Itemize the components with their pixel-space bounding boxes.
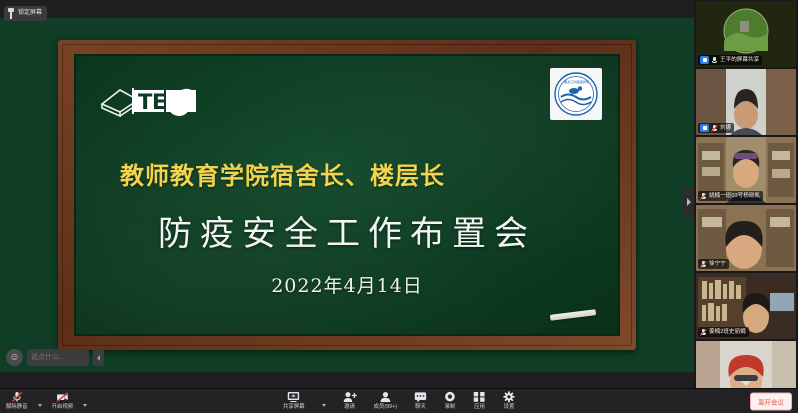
screen-share-icon [700,56,709,64]
record-label: 录制 [445,404,456,411]
participant-tile[interactable]: 徐宁宁 [696,205,796,271]
participant-video-strip[interactable]: 王平的屏幕共享 刘娜 [694,0,798,388]
microphone-icon [711,56,718,64]
settings-button[interactable]: 设置 [503,392,515,411]
slide-subtitle: 教师教育学院宿舍长、楼层长 [120,156,600,191]
toolbar-right-group: 离开会议 [750,392,792,411]
participants-button[interactable]: 成员(99+) [374,392,398,411]
blackboard-surface: T E [74,54,620,336]
participant-name: 王平的屏幕共享 [720,56,759,64]
chat-label: 聊天 [415,404,426,411]
chevron-right-icon [687,198,691,206]
screen-share-icon [287,392,300,403]
apps-label: 应用 [474,404,485,411]
participants-icon [379,392,392,403]
participant-name-badge: 徐宁宁 [698,259,729,269]
screen-share-icon [700,124,709,132]
chat-composer[interactable]: ☺ [6,349,104,366]
emoji-icon[interactable]: ☺ [6,349,23,366]
slide-main-title: 防疫安全工作布置会 [76,206,618,255]
participant-name-badge: 王平的屏幕共享 [698,55,762,65]
shared-screen-stage[interactable]: T E [0,0,694,388]
participant-name: 徐宁宁 [709,260,726,268]
chat-icon [414,392,427,403]
unmute-label: 解除静音 [6,404,28,411]
start-video-button[interactable]: 开启视频 [52,392,74,411]
chat-input[interactable] [27,349,89,366]
participant-name: 姚楠一班03号杨晓凯 [709,192,760,200]
svg-text:T: T [138,90,153,114]
invite-label: 邀请 [344,404,355,411]
start-video-label: 开启视频 [52,404,74,411]
invite-icon [343,392,357,403]
toolbar-left-group: 解除静音 开启视频 [0,392,87,411]
settings-label: 设置 [504,404,515,411]
participant-name-badge: 刘娜 [698,123,734,133]
unmute-button[interactable]: 解除静音 [6,392,28,411]
chevron-up-icon[interactable] [38,404,42,407]
chevron-up-icon[interactable] [83,404,87,407]
svg-text:黑龙江外国语学院: 黑龙江外国语学院 [564,79,589,84]
participant-name-badge: 姚楠一班03号杨晓凯 [698,191,763,201]
gear-icon [503,392,515,403]
blackboard-frame: T E [58,40,636,350]
participants-label: 成员(99+) [374,404,398,411]
lock-screen-badge[interactable]: 锁定屏幕 [4,6,47,21]
participant-tile[interactable]: 姚楠一班03号杨晓凯 [696,137,796,203]
chat-send-button[interactable] [93,349,104,366]
chevron-down-icon[interactable] [741,381,751,386]
participant-tile[interactable]: 姜楠2班史丽娟 [696,273,796,339]
microphone-muted-icon [700,328,707,336]
chevron-right-icon [97,355,100,361]
participant-name: 姜楠2班史丽娟 [709,328,746,336]
invite-button[interactable]: 邀请 [343,392,357,411]
chalk-stick [550,309,596,321]
participant-tile[interactable]: 王平的屏幕共享 [696,1,796,67]
microphone-muted-icon [700,260,707,268]
camera-muted-icon [56,392,69,403]
share-screen-button[interactable]: 共享屏幕 [283,392,305,411]
apps-button[interactable]: 应用 [473,392,486,411]
panel-collapse-handle[interactable] [683,187,694,217]
book-tes-logo: T E [98,74,210,122]
participant-name-badge: 姜楠2班史丽娟 [698,327,749,337]
record-icon [444,392,456,403]
slide-date: 2022年4月14日 [76,271,618,298]
meeting-toolbar: 解除静音 开启视频 [0,388,798,413]
share-screen-label: 共享屏幕 [283,404,305,411]
record-button[interactable]: 录制 [444,392,456,411]
meeting-window: T E [0,0,798,413]
university-seal-logo: 黑龙江外国语学院 [550,68,602,120]
lock-screen-label: 锁定屏幕 [18,9,42,18]
participant-name: 刘娜 [720,124,731,132]
svg-text:E: E [152,90,166,114]
apps-icon [473,392,486,403]
microphone-muted-icon [700,192,707,200]
toolbar-center-group: 共享屏幕 邀请 [283,392,515,411]
pin-icon [7,8,15,19]
participant-tile[interactable]: 刘娜 [696,69,796,135]
microphone-muted-icon [711,124,718,132]
presentation-slide: T E [0,18,694,372]
leave-meeting-button[interactable]: 离开会议 [750,393,792,411]
microphone-muted-icon [11,392,23,403]
chat-button[interactable]: 聊天 [414,392,427,411]
chevron-up-icon[interactable] [322,404,326,407]
